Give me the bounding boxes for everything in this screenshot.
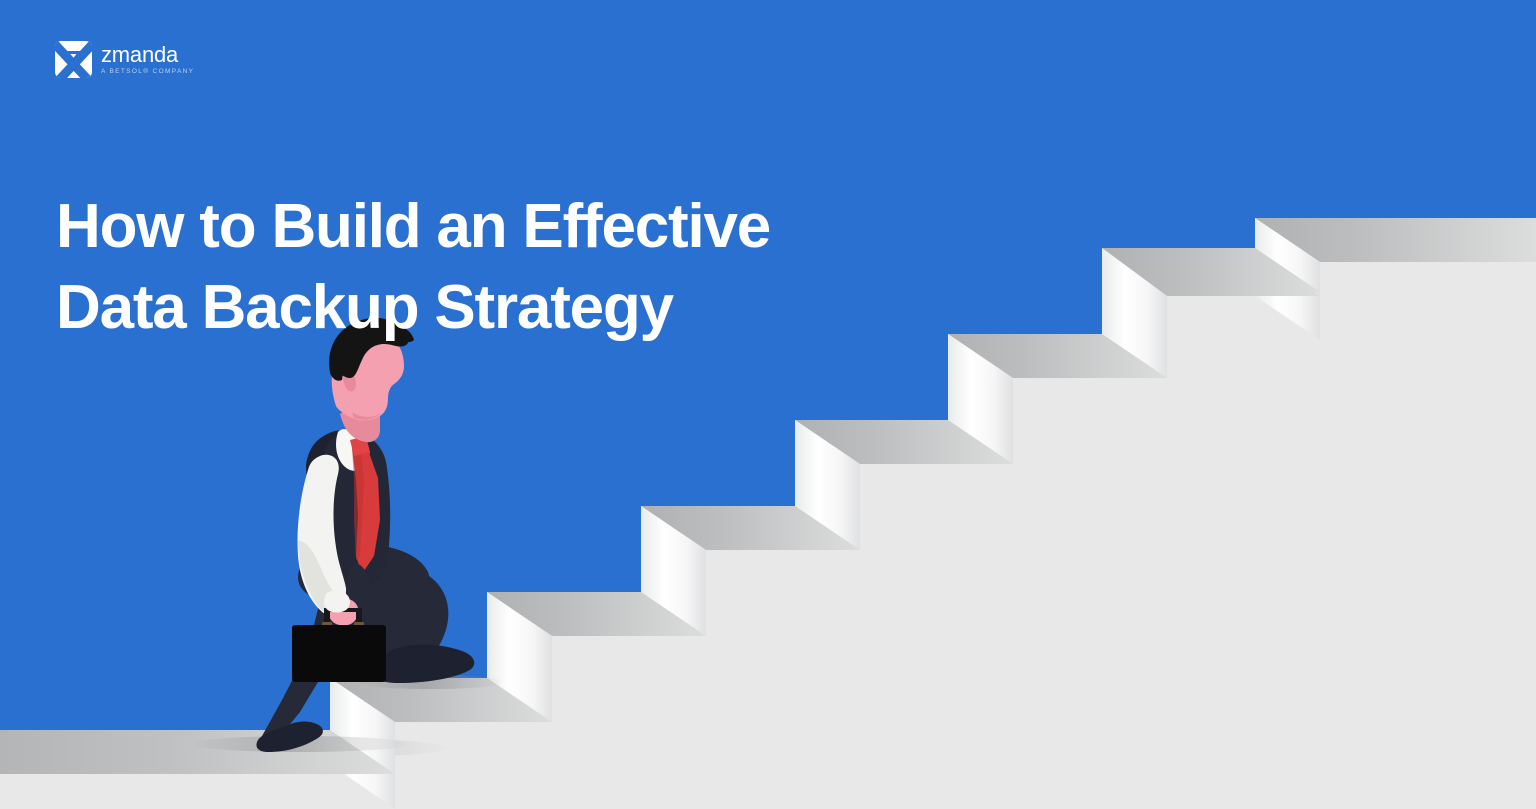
zmanda-logo[interactable]: Z zmanda A BETSOL® COMPANY bbox=[55, 41, 194, 78]
page-title-line-2: Data Backup Strategy bbox=[56, 267, 770, 348]
logo-wordmark: zmanda bbox=[101, 44, 194, 66]
page-title-line-1: How to Build an Effective bbox=[56, 186, 770, 267]
staircase-illustration bbox=[0, 0, 1536, 809]
logo-z-glyph: Z bbox=[55, 41, 92, 78]
hero-banner: Z zmanda A BETSOL® COMPANY How to Build … bbox=[0, 0, 1536, 809]
page-title: How to Build an Effective Data Backup St… bbox=[56, 186, 770, 348]
logo-text-block: zmanda A BETSOL® COMPANY bbox=[101, 44, 194, 76]
logo-tagline: A BETSOL® COMPANY bbox=[101, 69, 194, 76]
zmanda-z-mark-icon: Z bbox=[55, 41, 92, 78]
